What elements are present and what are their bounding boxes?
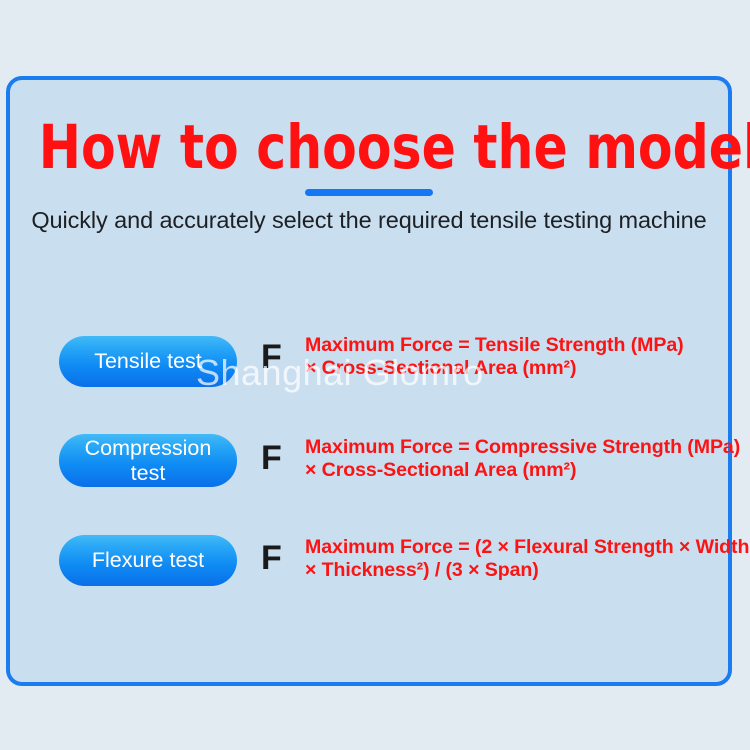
force-symbol: F xyxy=(261,438,282,478)
force-symbol: F xyxy=(261,538,282,578)
test-type-pill-flexure[interactable]: Flexure test xyxy=(59,535,237,586)
test-type-pill-compression[interactable]: Compression test xyxy=(59,434,237,487)
formula-row-tensile: Tensile test F Maximum Force = Tensile S… xyxy=(10,336,728,396)
content-card: How to choose the model Quickly and accu… xyxy=(6,76,732,686)
test-type-pill-tensile[interactable]: Tensile test xyxy=(59,336,237,387)
force-symbol: F xyxy=(261,337,282,377)
page-title: How to choose the model xyxy=(39,113,700,183)
formula-text-compression: Maximum Force = Compressive Strength (MP… xyxy=(305,436,745,481)
formula-row-flexure: Flexure test F Maximum Force = (2 × Flex… xyxy=(10,535,728,595)
page-subtitle: Quickly and accurately select the requir… xyxy=(10,206,728,235)
formula-text-flexure: Maximum Force = (2 × Flexural Strength ×… xyxy=(305,536,750,581)
formula-row-compression: Compression test F Maximum Force = Compr… xyxy=(10,434,728,494)
formula-text-tensile: Maximum Force = Tensile Strength (MPa) ×… xyxy=(305,334,743,379)
slide-canvas: How to choose the model Quickly and accu… xyxy=(0,0,750,750)
title-divider xyxy=(305,189,433,196)
